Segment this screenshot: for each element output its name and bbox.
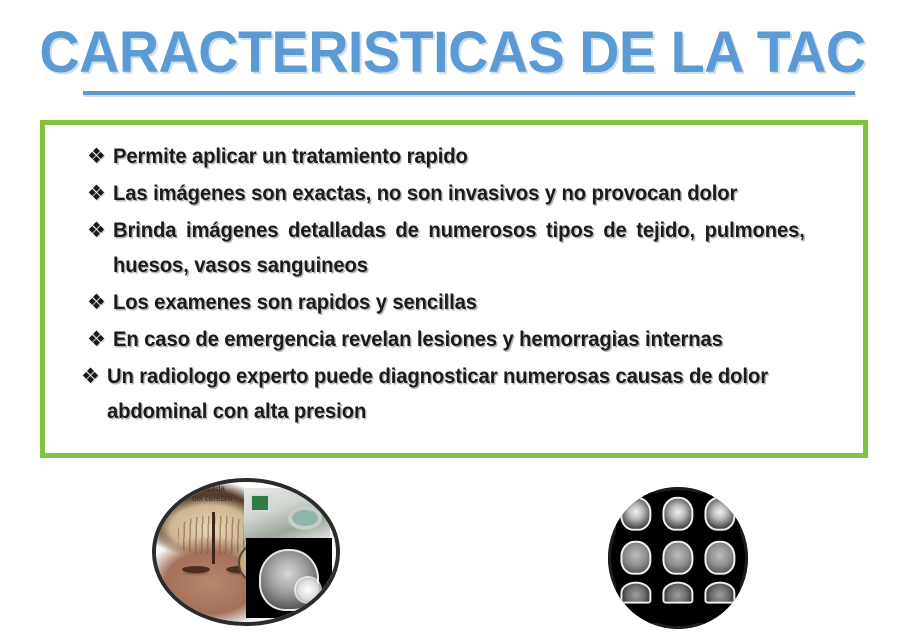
list-item-label: Un radiologo experto puede diagnosticar … bbox=[107, 359, 804, 429]
ct-slice bbox=[700, 493, 740, 535]
brain-midline-detail bbox=[212, 512, 215, 564]
diamond-bullet-icon: ❖ bbox=[61, 322, 113, 357]
ct-slice bbox=[616, 537, 656, 579]
list-item-label: Permite aplicar un tratamiento rapido bbox=[113, 139, 805, 174]
ct-slice bbox=[700, 581, 740, 623]
list-item: ❖ Los examenes son rapidos y sencillas bbox=[61, 285, 849, 320]
brain-ct-illustration-image: ...arizada del cerebro bbox=[152, 478, 340, 626]
ct-slice bbox=[700, 537, 740, 579]
ct-lesion-highlight bbox=[296, 578, 320, 602]
diamond-bullet-icon: ❖ bbox=[61, 359, 107, 394]
ct-slice bbox=[616, 493, 656, 535]
ct-slice bbox=[658, 581, 698, 623]
ct-slice bbox=[616, 581, 656, 623]
diamond-bullet-icon: ❖ bbox=[61, 285, 113, 320]
ct-scanner-photo bbox=[244, 488, 330, 540]
illustration-caption-line1: ...arizada bbox=[192, 484, 225, 493]
ct-slice-grid bbox=[616, 493, 740, 623]
page-title: CARACTERISTICAS DE LA TAC bbox=[18, 22, 887, 84]
scanner-gantry bbox=[288, 506, 322, 530]
list-item-label: En caso de emergencia revelan lesiones y… bbox=[113, 322, 805, 357]
list-item: ❖ En caso de emergencia revelan lesiones… bbox=[61, 322, 849, 357]
list-item-label: Las imágenes son exactas, no son invasiv… bbox=[113, 176, 805, 211]
diamond-bullet-icon: ❖ bbox=[61, 176, 113, 211]
diamond-bullet-icon: ❖ bbox=[61, 213, 113, 248]
title-underline bbox=[83, 91, 855, 95]
ct-slice bbox=[658, 537, 698, 579]
list-item: ❖ Brinda imágenes detalladas de numeroso… bbox=[61, 213, 849, 283]
features-box: ❖ Permite aplicar un tratamiento rapido … bbox=[40, 120, 868, 458]
ct-scan-photo bbox=[246, 538, 332, 618]
list-item: ❖ Las imágenes son exactas, no son invas… bbox=[61, 176, 849, 211]
feature-list: ❖ Permite aplicar un tratamiento rapido … bbox=[61, 139, 849, 429]
ct-brain-slice-montage-image bbox=[608, 487, 748, 629]
list-item: ❖ Permite aplicar un tratamiento rapido bbox=[61, 139, 849, 174]
face-eye-left bbox=[182, 566, 210, 573]
diamond-bullet-icon: ❖ bbox=[61, 139, 113, 174]
ct-slice bbox=[658, 493, 698, 535]
illustration-caption-line2: del cerebro bbox=[192, 494, 232, 503]
scanner-panel bbox=[250, 494, 270, 512]
list-item: ❖ Un radiologo experto puede diagnostica… bbox=[61, 359, 849, 429]
list-item-label: Los examenes son rapidos y sencillas bbox=[113, 285, 805, 320]
list-item-label: Brinda imágenes detalladas de numerosos … bbox=[113, 213, 805, 283]
